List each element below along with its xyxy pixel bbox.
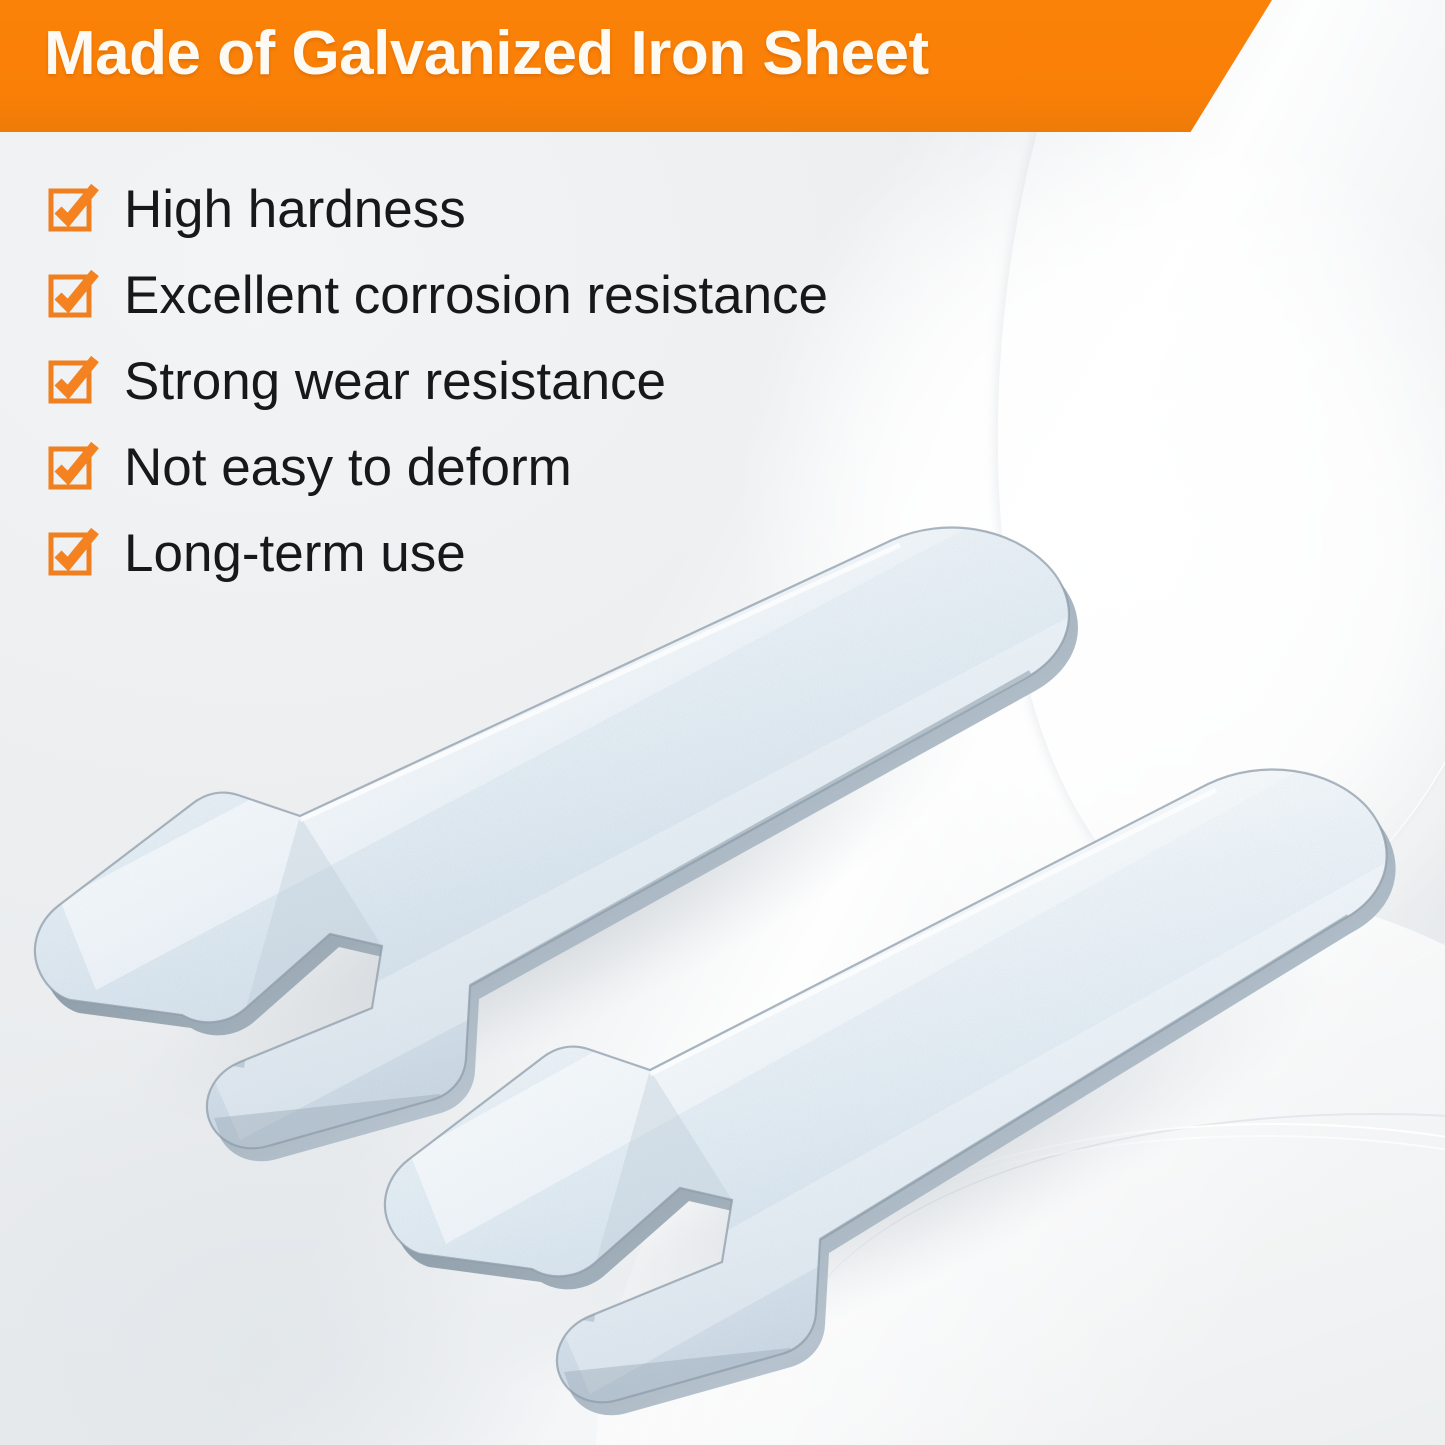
feature-item: Not easy to deform bbox=[48, 424, 948, 510]
product-feature-image: Made of Galvanized Iron Sheet High hardn… bbox=[0, 0, 1445, 1445]
feature-list: High hardness Excellent corrosion resist… bbox=[48, 166, 948, 596]
feature-label: High hardness bbox=[124, 183, 466, 236]
page-title: Made of Galvanized Iron Sheet bbox=[44, 18, 929, 89]
feature-item: High hardness bbox=[48, 166, 948, 252]
checkbox-checked-icon bbox=[48, 443, 96, 491]
feature-label: Long-term use bbox=[124, 527, 466, 580]
checkbox-checked-icon bbox=[48, 271, 96, 319]
checkbox-checked-icon bbox=[48, 357, 96, 405]
feature-label: Strong wear resistance bbox=[124, 355, 666, 408]
header-banner: Made of Galvanized Iron Sheet bbox=[0, 0, 1272, 132]
feature-label: Not easy to deform bbox=[124, 441, 572, 494]
feature-item: Long-term use bbox=[48, 510, 948, 596]
feature-label: Excellent corrosion resistance bbox=[124, 269, 828, 322]
checkbox-checked-icon bbox=[48, 529, 96, 577]
checkbox-checked-icon bbox=[48, 185, 96, 233]
feature-item: Strong wear resistance bbox=[48, 338, 948, 424]
feature-item: Excellent corrosion resistance bbox=[48, 252, 948, 338]
